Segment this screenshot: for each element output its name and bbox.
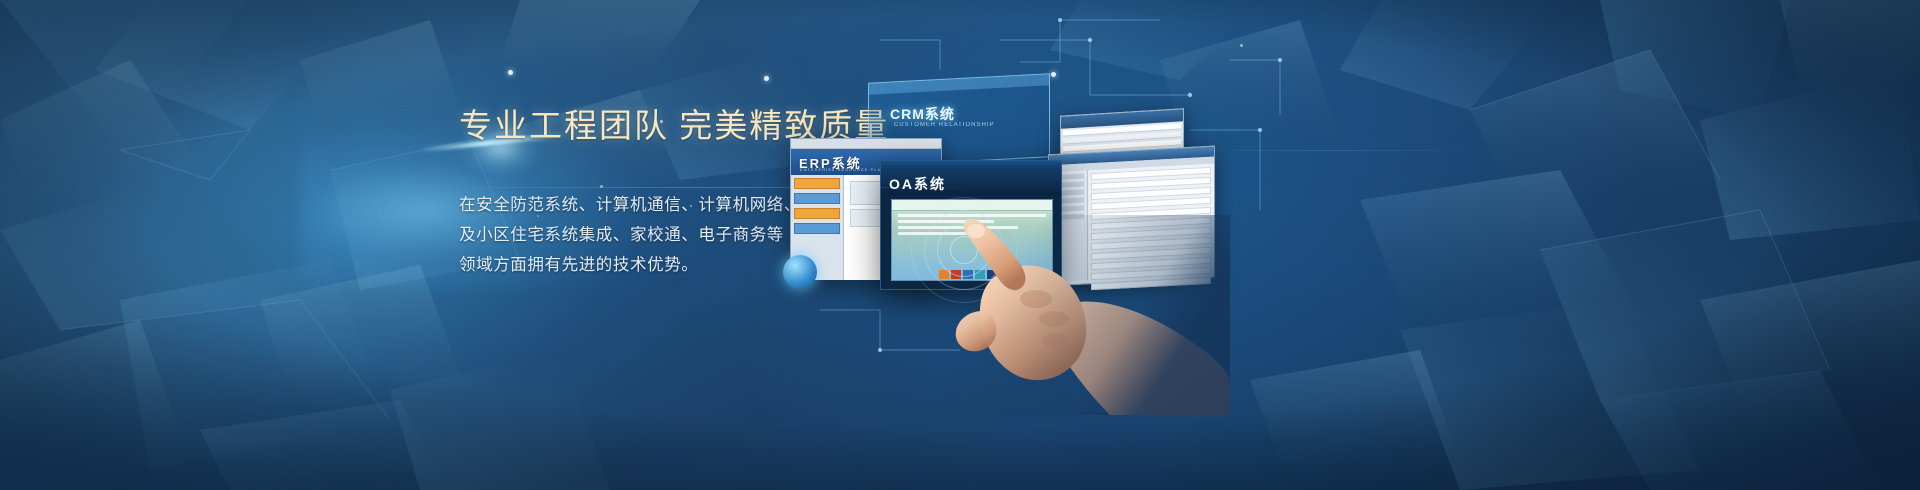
table-app-window[interactable] bbox=[1048, 146, 1215, 287]
oa-content-screen[interactable] bbox=[891, 199, 1053, 281]
swatch-blue bbox=[963, 270, 973, 279]
oa-window[interactable]: OA系统 bbox=[880, 160, 1062, 290]
globe-orb-icon bbox=[783, 255, 817, 289]
sparkle-dot bbox=[508, 70, 513, 75]
oa-header: OA系统 bbox=[881, 171, 1061, 195]
oa-content-line bbox=[898, 220, 994, 223]
oa-window-label: OA系统 bbox=[889, 174, 946, 194]
erp-menubar[interactable] bbox=[791, 139, 941, 149]
table-app-body bbox=[1049, 164, 1214, 283]
erp-nav-icon[interactable] bbox=[794, 208, 840, 219]
erp-nav-icon[interactable] bbox=[794, 178, 840, 189]
oa-content-toolbar bbox=[892, 200, 1052, 211]
crm-window-label: CRM系统 bbox=[890, 104, 955, 124]
swatch-orange bbox=[939, 270, 949, 279]
erp-nav-icon[interactable] bbox=[794, 193, 840, 204]
table-app-rows bbox=[1088, 164, 1214, 281]
software-screens-cluster: CRM系统 CUSTOMER RELATIONSHIP bbox=[760, 0, 1320, 400]
oa-content-line bbox=[898, 226, 1018, 229]
hero-banner: 专业工程团队 完美精致质量 在安全防范系统、计算机通信、计算机网络、智能大厦 及… bbox=[0, 0, 1920, 490]
oa-content-line bbox=[898, 214, 1046, 217]
swatch-red bbox=[951, 270, 961, 279]
oa-titlebar bbox=[881, 161, 1061, 171]
crm-window-sublabel: CUSTOMER RELATIONSHIP bbox=[894, 122, 994, 128]
erp-nav-icon[interactable] bbox=[794, 223, 840, 234]
oa-color-swatches bbox=[939, 270, 997, 279]
swatch-teal bbox=[975, 270, 985, 279]
oa-content-line bbox=[898, 232, 970, 235]
swatch-navy bbox=[987, 270, 997, 279]
